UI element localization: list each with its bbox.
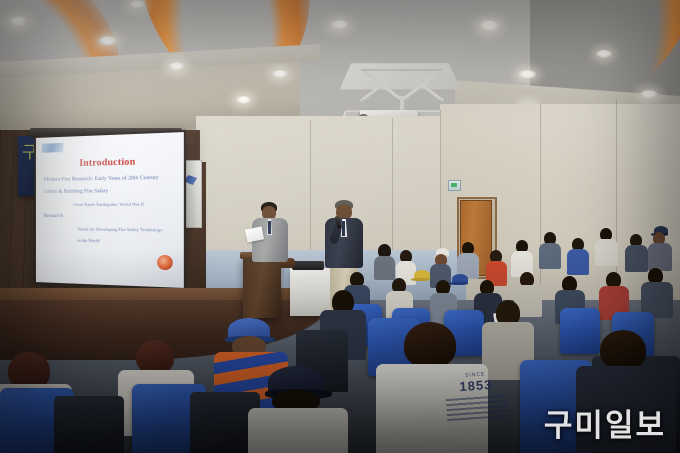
downlight	[98, 36, 117, 46]
cap-icon	[414, 270, 430, 280]
downlight	[272, 70, 288, 78]
head	[404, 322, 456, 368]
downlight	[236, 96, 251, 104]
downlight	[168, 62, 185, 71]
seat[interactable]	[560, 308, 600, 354]
downlight	[128, 0, 146, 9]
exit-sign-icon	[448, 180, 461, 191]
downlight	[640, 90, 658, 99]
projection-screen: Introduction Modern Fire Research: Early…	[34, 130, 186, 290]
head	[136, 340, 174, 374]
screen-surface: Introduction Modern Fire Research: Early…	[34, 130, 186, 290]
downlight	[478, 20, 500, 32]
tshirt-print: SINCE 1853	[444, 370, 510, 432]
head	[600, 330, 646, 370]
tshirt-print-block	[446, 394, 509, 420]
body	[539, 243, 561, 269]
body	[595, 239, 618, 266]
necktie	[342, 221, 345, 236]
body	[374, 256, 395, 280]
downlight	[330, 20, 349, 30]
necktie	[268, 221, 271, 234]
tshirt-print-line2: 1853	[444, 376, 507, 397]
lecture-hall-photo: 구 Introduction Modern Fire Research: Ear…	[0, 0, 680, 453]
laptop	[292, 261, 324, 270]
watermark: 구미일보	[544, 400, 666, 445]
podium	[243, 256, 281, 318]
body	[567, 249, 589, 275]
podium-speaker	[250, 202, 290, 262]
cap-icon	[452, 274, 468, 284]
body	[625, 245, 648, 272]
downlight	[518, 70, 536, 79]
body	[248, 408, 348, 453]
body	[648, 243, 672, 271]
screen-glare	[34, 130, 137, 290]
downlight	[596, 50, 612, 58]
downlight	[8, 16, 28, 27]
seat[interactable]	[54, 396, 124, 453]
seal-logo-icon	[157, 255, 172, 270]
